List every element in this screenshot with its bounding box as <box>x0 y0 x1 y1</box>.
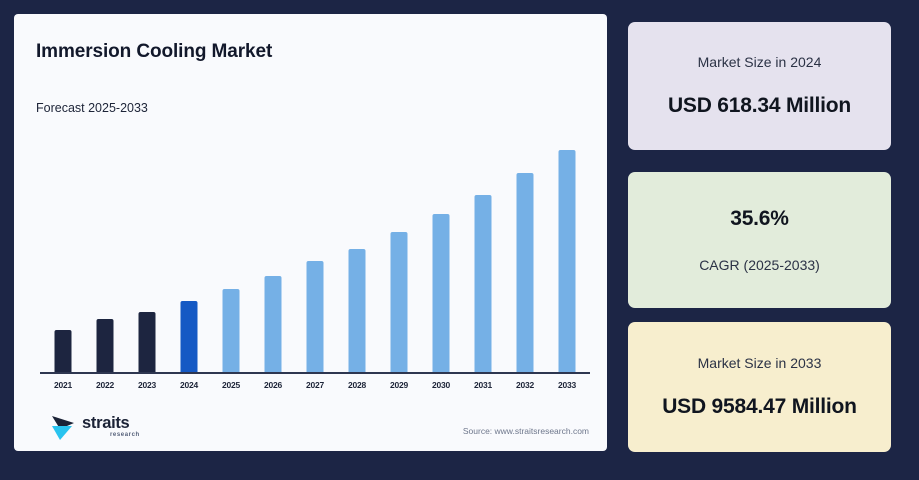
bar-2023 <box>139 312 156 372</box>
bar-2030 <box>433 214 450 372</box>
bar-2031 <box>475 195 492 372</box>
x-tick-2033: 2033 <box>546 380 588 390</box>
bar-2027 <box>307 261 324 372</box>
straits-research-logo: straits research <box>50 412 170 448</box>
x-tick-2028: 2028 <box>336 380 378 390</box>
page-title: Immersion Cooling Market <box>36 41 272 63</box>
bar-2028 <box>349 249 366 372</box>
bar-2024 <box>181 301 198 372</box>
chart-panel: Immersion Cooling Market Forecast 2025-2… <box>14 14 607 451</box>
x-tick-2031: 2031 <box>462 380 504 390</box>
card-market-2033-value: USD 9584.47 Million <box>662 395 857 419</box>
x-tick-2025: 2025 <box>210 380 252 390</box>
x-axis-line <box>40 372 590 374</box>
bar-slot <box>420 134 462 372</box>
bar-slot <box>378 134 420 372</box>
card-cagr-value: 35.6% <box>730 207 789 231</box>
stat-card-market-size-2024: Market Size in 2024USD 618.34 Million <box>628 22 891 150</box>
bar-slot <box>210 134 252 372</box>
infographic-root: Immersion Cooling Market Forecast 2025-2… <box>0 0 919 480</box>
x-tick-2022: 2022 <box>84 380 126 390</box>
stat-card-cagr: 35.6%CAGR (2025-2033) <box>628 172 891 308</box>
logo-arrow-icon <box>50 414 80 442</box>
bar-slot <box>336 134 378 372</box>
bar-slot <box>504 134 546 372</box>
x-tick-2021: 2021 <box>42 380 84 390</box>
bar-slot <box>168 134 210 372</box>
bar-slot <box>42 134 84 372</box>
x-tick-2024: 2024 <box>168 380 210 390</box>
x-tick-2023: 2023 <box>126 380 168 390</box>
stat-card-market-size-2033: Market Size in 2033USD 9584.47 Million <box>628 322 891 452</box>
bar-chart: 2021202220232024202520262027202820292030… <box>40 134 590 374</box>
bar-slot <box>462 134 504 372</box>
bar-2021 <box>55 330 72 372</box>
x-tick-2026: 2026 <box>252 380 294 390</box>
bar-2025 <box>223 289 240 372</box>
bar-2026 <box>265 276 282 372</box>
chart-subtitle: Forecast 2025-2033 <box>36 101 148 115</box>
x-tick-2029: 2029 <box>378 380 420 390</box>
x-tick-2030: 2030 <box>420 380 462 390</box>
bar-2033 <box>559 150 576 372</box>
x-tick-2032: 2032 <box>504 380 546 390</box>
bar-2029 <box>391 232 408 372</box>
card-market-2033-label: Market Size in 2033 <box>698 355 822 371</box>
logo-subtext: research <box>110 432 140 438</box>
card-market-2024-label: Market Size in 2024 <box>698 54 822 70</box>
bar-2032 <box>517 173 534 372</box>
bar-slot <box>546 134 588 372</box>
bar-slot <box>294 134 336 372</box>
card-market-2024-value: USD 618.34 Million <box>668 94 851 118</box>
bar-series <box>40 134 590 372</box>
bar-2022 <box>97 319 114 372</box>
source-credit: Source: www.straitsresearch.com <box>463 426 589 436</box>
bar-slot <box>126 134 168 372</box>
x-tick-2027: 2027 <box>294 380 336 390</box>
card-cagr-label: CAGR (2025-2033) <box>699 257 820 273</box>
bar-slot <box>84 134 126 372</box>
bar-slot <box>252 134 294 372</box>
logo-wordmark: straits <box>82 414 129 433</box>
